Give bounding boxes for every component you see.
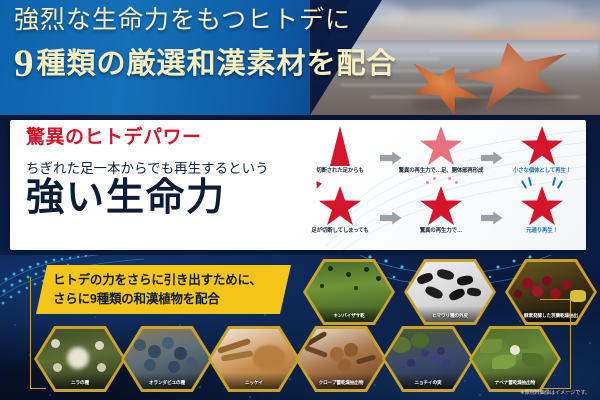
starfish-full-shape <box>521 126 563 166</box>
diagram-caption: 驚異の再生力で…足、胴体部再形成 <box>399 168 484 174</box>
arrow-right-icon <box>479 126 504 188</box>
regen-dot <box>433 177 436 180</box>
diagram-step: 驚異の再生力で…足、胴体部再形成 <box>403 126 479 186</box>
diagram-step: 元通り再生！ <box>504 186 580 246</box>
regen-dot <box>426 181 429 184</box>
starfish-pale-shape <box>420 126 462 166</box>
starfish-restored-shape <box>521 186 563 226</box>
diagram-step: 驚異の再生力で… <box>403 186 479 246</box>
starfish-regrow-shape <box>420 186 462 226</box>
bracket-right-top <box>540 299 570 301</box>
diagram-caption: 小さな個体として再生！ <box>513 168 571 174</box>
bracket-right <box>556 299 571 389</box>
regeneration-diagram: 切断された足からも 驚異の再生力で…足、胴体部再形成 小さな個体として再生！ <box>302 124 580 248</box>
bracket-left-bottom <box>30 388 46 390</box>
diagram-step: 小さな個体として再生！ <box>504 126 580 186</box>
headline-line-1: 強烈な生命力をもつヒトデに <box>14 8 397 33</box>
diagram-caption: 驚異の再生力で… <box>420 228 462 234</box>
diagram-caption: 足が切断してしまっても <box>311 228 368 234</box>
severed-leg-shape <box>330 126 350 166</box>
panel-subtitle: ちぎれた足一本からでも再生するという <box>26 157 306 177</box>
arrow-right-icon <box>378 126 403 188</box>
diagram-caption: 切断された足からも <box>316 168 364 174</box>
regen-dot <box>455 181 458 184</box>
diagram-caption: 元通り再生！ <box>526 228 558 234</box>
diagram-row-1: 切断された足からも 驚異の再生力で…足、胴体部再形成 小さな個体として再生！ <box>302 126 580 186</box>
regen-dot <box>448 177 451 180</box>
banner-line-2: さらに9種類の和漢植物を配合 <box>53 290 291 308</box>
ingredients-section: ヒトデの力をさらに引き出すために、 さらに9種類の和漢植物を配合 キンバイザサ乾 <box>0 255 600 400</box>
headline-line-2-text: 種類の厳選和漢素材を配合 <box>37 48 397 80</box>
arrow-right-icon <box>378 186 403 248</box>
panel-band: 驚異のヒトデパワー ちぎれた足一本からでも再生するという 強い生命力 切断された… <box>0 115 600 255</box>
panel-big-text: 強い生命力 <box>26 179 306 219</box>
promo-banner: 強烈な生命力をもつヒトデに 9種類の厳選和漢素材を配合 驚異のヒトデパワー ちぎ… <box>0 0 600 400</box>
banner-line-1: ヒトデの力をさらに引き出すために、 <box>53 271 291 289</box>
starfish-chipped-shape <box>319 186 361 226</box>
bracket-right-bottom <box>540 388 570 390</box>
headline-line-2: 9種類の厳選和漢素材を配合 <box>14 44 397 83</box>
footnote: ※原材料画像はイメージです。 <box>520 389 590 396</box>
yellow-banner: ヒトデの力をさらに引き出すために、 さらに9種類の和漢植物を配合 <box>36 265 291 314</box>
diagram-row-2: 足が切断してしまっても 驚異の再生力で… <box>302 186 580 246</box>
panel-title: 驚異のヒトデパワー <box>26 128 306 149</box>
panel-text-block: 驚異のヒトデパワー ちぎれた足一本からでも再生するという 強い生命力 <box>26 128 306 219</box>
diagram-step: 切断された足からも <box>302 126 378 186</box>
header-section: 強烈な生命力をもつヒトデに 9種類の厳選和漢素材を配合 <box>0 0 600 115</box>
arrow-right-icon <box>479 186 504 248</box>
headline-number: 9 <box>14 42 37 85</box>
headline: 強烈な生命力をもつヒトデに 9種類の厳選和漢素材を配合 <box>14 8 397 83</box>
diagram-step: 足が切断してしまっても <box>302 186 378 246</box>
cloud <box>515 20 600 40</box>
hitode-power-panel: 驚異のヒトデパワー ちぎれた足一本からでも再生するという 強い生命力 切断された… <box>10 120 586 250</box>
